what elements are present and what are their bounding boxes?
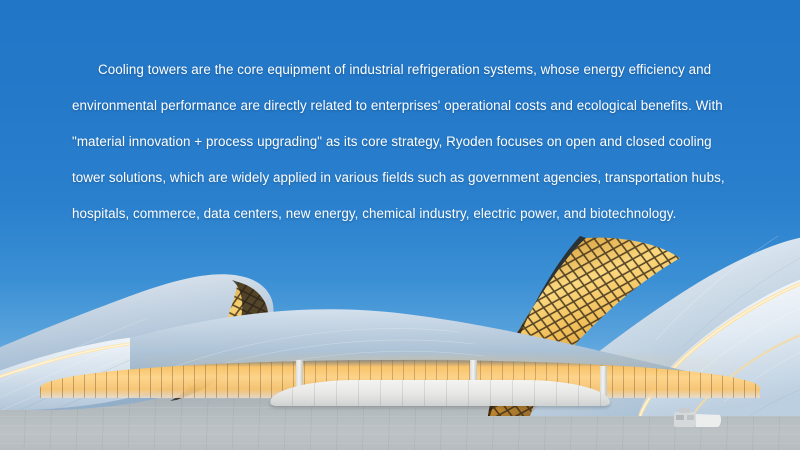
opera-house-photo bbox=[0, 235, 800, 450]
banner-paragraph: Cooling towers are the core equipment of… bbox=[72, 52, 732, 232]
banner-copy: Cooling towers are the core equipment of… bbox=[0, 0, 800, 232]
service-vehicle-icon bbox=[670, 406, 722, 428]
banner-stage: Cooling towers are the core equipment of… bbox=[0, 0, 800, 450]
balustrade-panel-seams bbox=[270, 380, 610, 406]
